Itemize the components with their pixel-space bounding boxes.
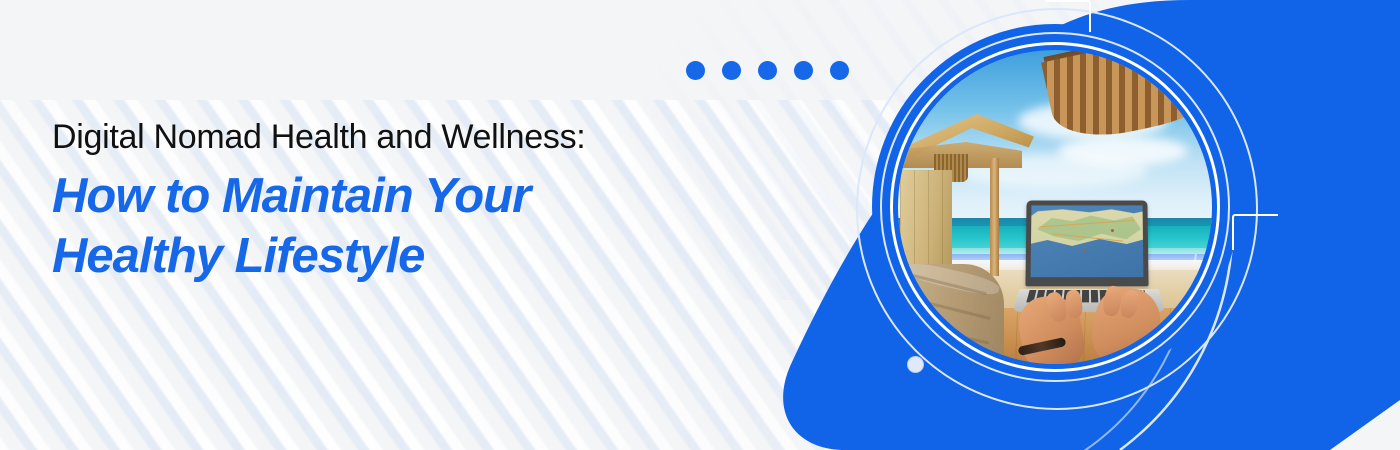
headline-block: Digital Nomad Health and Wellness: How t… <box>52 118 812 286</box>
headline-line-3: Healthy Lifestyle <box>52 228 812 286</box>
headline-line-1: Digital Nomad Health and Wellness: <box>52 118 812 156</box>
promo-banner: Digital Nomad Health and Wellness: How t… <box>0 0 1400 450</box>
dot-icon-5 <box>830 61 849 80</box>
dot-icon-1 <box>686 61 705 80</box>
headline-line-2: How to Maintain Your <box>52 168 812 226</box>
dot-icon-4 <box>794 61 813 80</box>
decorative-dot-row <box>686 61 849 80</box>
dot-icon-2 <box>722 61 741 80</box>
dot-icon-3 <box>758 61 777 80</box>
